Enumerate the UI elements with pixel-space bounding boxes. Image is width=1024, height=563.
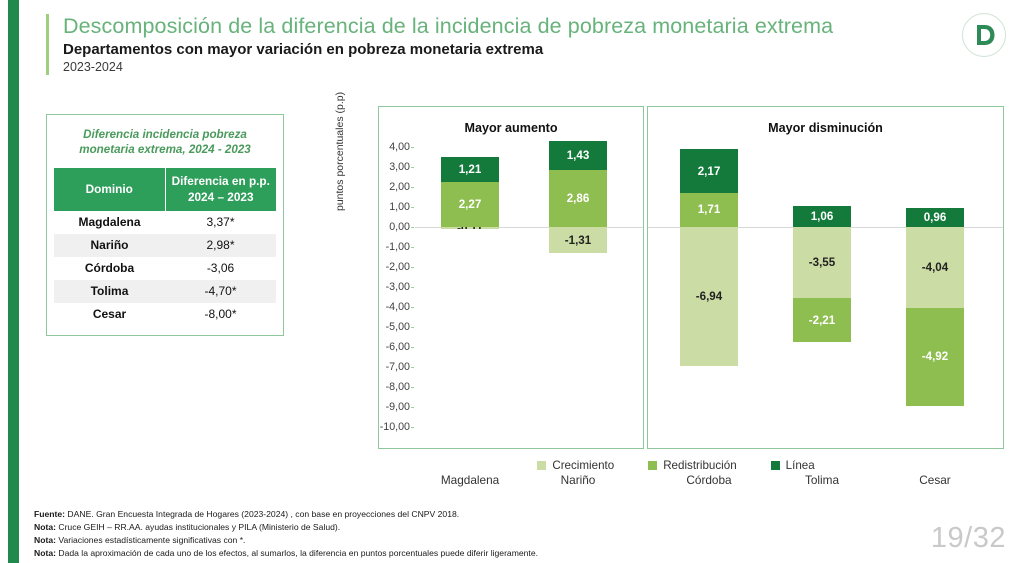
- footnote-label: Nota:: [34, 522, 56, 532]
- footnote-text: DANE. Gran Encuesta Integrada de Hogares…: [65, 509, 459, 519]
- x-axis-label-cesar: Cesar: [880, 473, 990, 487]
- y-axis-tick: -7,00: [376, 361, 410, 373]
- page-subtitle: Departamentos con mayor variación en pob…: [63, 41, 916, 59]
- footnote-label: Nota:: [34, 548, 56, 558]
- cell-diferencia: -8,00*: [165, 303, 276, 326]
- cell-dominio: Tolima: [54, 280, 165, 303]
- y-axis-tick: 1,00: [376, 201, 410, 213]
- y-axis-tick: 4,00: [376, 141, 410, 153]
- x-axis-label-nariño: Nariño: [523, 473, 633, 487]
- charts-container: puntos porcentuales (p.p) Mayor aumento …: [340, 103, 1012, 493]
- chart-legend: Crecimiento Redistribución Línea: [340, 459, 1012, 472]
- bar-segment-label: -4,04: [922, 261, 948, 274]
- y-axis-tick-mark: [411, 247, 414, 248]
- bar-segment-label: -2,21: [809, 314, 835, 327]
- bar-córdoba: 2,171,71-6,94: [680, 147, 738, 427]
- panel-title: Mayor aumento: [379, 121, 643, 135]
- bar-segment-label: 0,96: [924, 211, 947, 224]
- table-header-diferencia: Diferencia en p.p. 2024 – 2023: [165, 168, 276, 212]
- bar-segment-redis: 1,71: [680, 193, 738, 227]
- bar-segment-crec: -4,04: [906, 227, 964, 308]
- bar-segment-redis: 2,86: [549, 170, 607, 227]
- y-axis-tick-mark: [411, 307, 414, 308]
- bar-segment-redis: 2,27: [441, 182, 499, 227]
- table-header-row: Dominio Diferencia en p.p. 2024 – 2023: [54, 168, 276, 212]
- table-header-diferencia-line2: 2024 – 2023: [169, 190, 274, 206]
- legend-item-crecimiento: Crecimiento: [537, 459, 614, 472]
- chart-panel-mayor-aumento: Mayor aumento 4,003,002,001,000,00-1,00-…: [378, 106, 644, 449]
- bar-segment-crec: -6,94: [680, 227, 738, 366]
- bar-segment-redis: -4,92: [906, 308, 964, 406]
- page-period: 2023-2024: [63, 60, 916, 75]
- bar-segment-label: 1,43: [567, 149, 590, 162]
- bar-segment-label: 2,27: [459, 198, 482, 211]
- cell-diferencia: -3,06: [165, 257, 276, 280]
- cell-dominio: Cesar: [54, 303, 165, 326]
- slide-header: Descomposición de la diferencia de la in…: [46, 14, 916, 75]
- y-axis-tick-mark: [411, 387, 414, 388]
- bar-tolima: 1,06-3,55-2,21: [793, 147, 851, 427]
- footnotes: Fuente: DANE. Gran Encuesta Integrada de…: [34, 508, 714, 560]
- bar-segment-crec: -1,31: [549, 227, 607, 253]
- table-row: Tolima -4,70*: [54, 280, 276, 303]
- legend-swatch-icon: [648, 461, 657, 470]
- bar-segment-linea: 1,21: [441, 157, 499, 181]
- y-axis-tick-mark: [411, 367, 414, 368]
- cell-dominio: Magdalena: [54, 211, 165, 234]
- bar-segment-linea: 1,06: [793, 206, 851, 227]
- y-axis-tick-mark: [411, 347, 414, 348]
- bar-segment-label: 2,86: [567, 192, 590, 205]
- bar-magdalena: 1,212,27-0,11: [441, 147, 499, 427]
- bar-segment-linea: 0,96: [906, 208, 964, 227]
- y-axis-tick: -8,00: [376, 381, 410, 393]
- y-axis-tick-mark: [411, 167, 414, 168]
- plot-area-right: 2,171,71-6,94Córdoba1,06-3,55-2,21Tolima…: [648, 147, 1003, 427]
- footnote-text: Dada la aproximación de cada uno de los …: [56, 548, 538, 558]
- bar-segment-label: -6,94: [696, 290, 722, 303]
- bar-segment-label: 1,71: [698, 203, 721, 216]
- cell-diferencia: 2,98*: [165, 234, 276, 257]
- legend-label: Crecimiento: [552, 459, 614, 472]
- footnote-nota-3: Nota: Dada la aproximación de cada uno d…: [34, 547, 714, 560]
- legend-label: Redistribución: [663, 459, 736, 472]
- table-header-dominio: Dominio: [54, 168, 165, 212]
- y-axis-tick-mark: [411, 187, 414, 188]
- footnote-text: Variaciones estadísticamente significati…: [56, 535, 245, 545]
- difference-table-card: Diferencia incidencia pobreza monetaria …: [46, 114, 284, 336]
- footnote-nota-2: Nota: Variaciones estadísticamente signi…: [34, 534, 714, 547]
- legend-swatch-icon: [537, 461, 546, 470]
- cell-dominio: Córdoba: [54, 257, 165, 280]
- y-axis-tick: 0,00: [376, 221, 410, 233]
- footnote-fuente: Fuente: DANE. Gran Encuesta Integrada de…: [34, 508, 714, 521]
- y-axis-tick: -10,00: [376, 421, 410, 433]
- table-row: Cesar -8,00*: [54, 303, 276, 326]
- y-axis-tick: -9,00: [376, 401, 410, 413]
- cell-diferencia: 3,37*: [165, 211, 276, 234]
- y-axis-tick: -5,00: [376, 321, 410, 333]
- page-title: Descomposición de la diferencia de la in…: [63, 14, 916, 39]
- x-axis-label-córdoba: Córdoba: [654, 473, 764, 487]
- bar-segment-label: 2,17: [698, 165, 721, 178]
- bar-segment-redis: -2,21: [793, 298, 851, 342]
- bar-segment-linea: 2,17: [680, 149, 738, 192]
- bar-segment-label: -3,55: [809, 256, 835, 269]
- y-axis-tick-mark: [411, 287, 414, 288]
- y-axis-tick-mark: [411, 227, 414, 228]
- footnote-label: Nota:: [34, 535, 56, 545]
- bar-segment-crec: -3,55: [793, 227, 851, 298]
- bar-segment-label: -4,92: [922, 350, 948, 363]
- table-row: Córdoba -3,06: [54, 257, 276, 280]
- bar-segment-label: 1,06: [811, 210, 834, 223]
- y-axis-tick: -1,00: [376, 241, 410, 253]
- bar-nariño: 1,432,86-1,31: [549, 147, 607, 427]
- page-number: 19/32: [931, 522, 1006, 555]
- bar-cesar: 0,96-4,04-4,92: [906, 147, 964, 427]
- legend-item-redistribucion: Redistribución: [648, 459, 736, 472]
- bar-segment-label: 1,21: [459, 163, 482, 176]
- legend-label: Línea: [786, 459, 815, 472]
- x-axis-label-tolima: Tolima: [767, 473, 877, 487]
- difference-table: Dominio Diferencia en p.p. 2024 – 2023 M…: [54, 168, 276, 327]
- table-body: Magdalena 3,37* Nariño 2,98* Córdoba -3,…: [54, 211, 276, 326]
- panel-title: Mayor disminución: [648, 121, 1003, 135]
- y-axis-tick: -6,00: [376, 341, 410, 353]
- x-axis-label-magdalena: Magdalena: [415, 473, 525, 487]
- bar-segment-linea: 1,43: [549, 141, 607, 170]
- y-axis-tick-mark: [411, 427, 414, 428]
- table-row: Nariño 2,98*: [54, 234, 276, 257]
- left-accent-stripe: [8, 0, 19, 563]
- cell-dominio: Nariño: [54, 234, 165, 257]
- cell-diferencia: -4,70*: [165, 280, 276, 303]
- footnote-nota-1: Nota: Cruce GEIH – RR.AA. ayudas institu…: [34, 521, 714, 534]
- legend-item-linea: Línea: [771, 459, 815, 472]
- bar-segment-label: -0,11: [457, 227, 483, 229]
- y-axis-tick-mark: [411, 147, 414, 148]
- y-axis-tick-mark: [411, 407, 414, 408]
- plot-area-left: 4,003,002,001,000,00-1,00-2,00-3,00-4,00…: [379, 147, 643, 427]
- dane-logo: [962, 13, 1006, 57]
- bar-segment-crec: -0,11: [441, 227, 499, 229]
- y-axis-tick: -2,00: [376, 261, 410, 273]
- table-caption: Diferencia incidencia pobreza monetaria …: [54, 125, 276, 168]
- table-header-diferencia-line1: Diferencia en p.p.: [172, 174, 270, 188]
- y-axis-tick-mark: [411, 267, 414, 268]
- bar-segment-label: -1,31: [565, 234, 591, 247]
- y-axis-tick: -3,00: [376, 281, 410, 293]
- table-row: Magdalena 3,37*: [54, 211, 276, 234]
- y-axis-tick-mark: [411, 207, 414, 208]
- y-axis-tick: -4,00: [376, 301, 410, 313]
- y-axis-label: puntos porcentuales (p.p): [334, 31, 346, 211]
- footnote-label: Fuente:: [34, 509, 65, 519]
- footnote-text: Cruce GEIH – RR.AA. ayudas institucional…: [56, 522, 340, 532]
- y-axis-tick: 3,00: [376, 161, 410, 173]
- legend-swatch-icon: [771, 461, 780, 470]
- chart-panel-mayor-disminucion: Mayor disminución 2,171,71-6,94Córdoba1,…: [647, 106, 1004, 449]
- y-axis-tick: 2,00: [376, 181, 410, 193]
- y-axis-tick-mark: [411, 327, 414, 328]
